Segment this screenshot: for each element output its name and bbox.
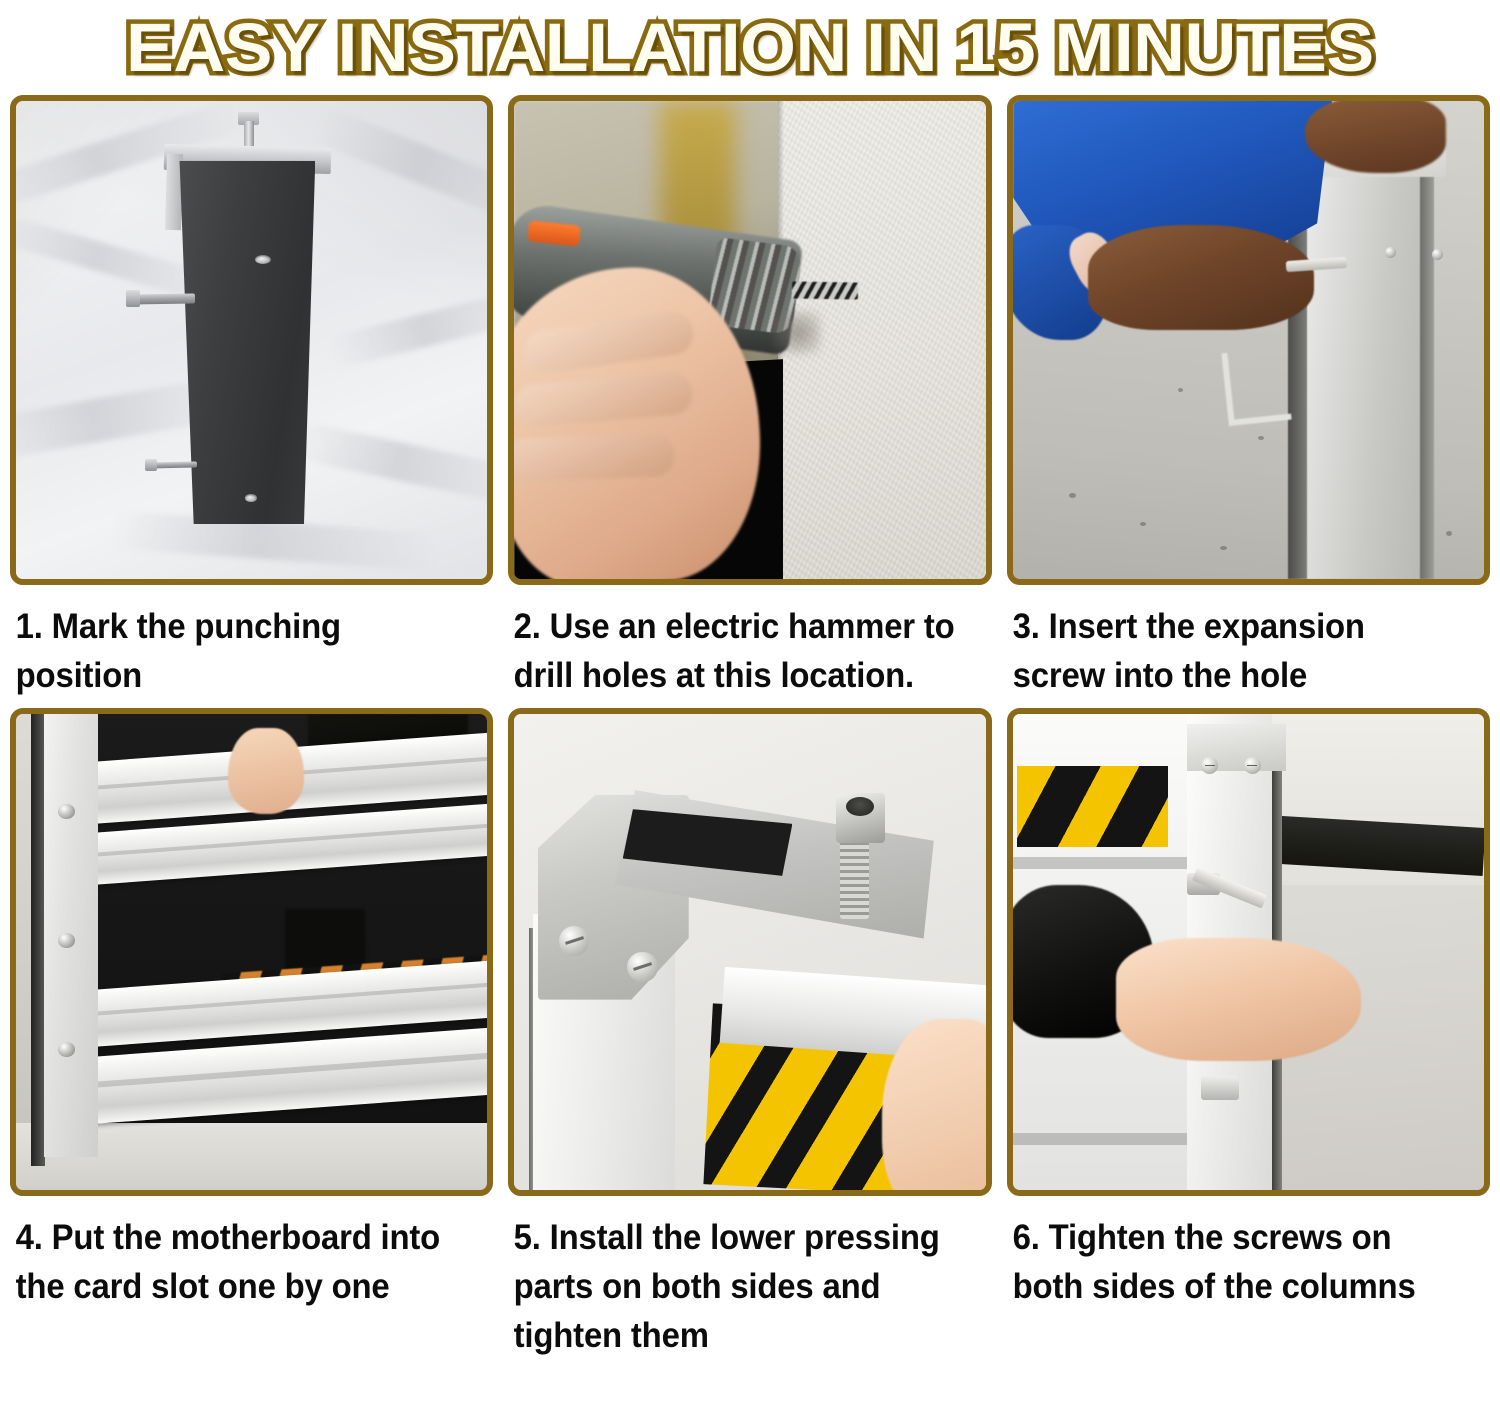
steps-grid: 1. Mark the punching position 2. Use xyxy=(0,95,1500,1360)
step-3-caption: 3. Insert the expansion screw into the h… xyxy=(1007,585,1461,700)
step-6: 6. Tighten the screws on both sides of t… xyxy=(1007,708,1490,1360)
step-1-photo-frame xyxy=(10,95,493,585)
step-5-caption: 5. Install the lower pressing parts on b… xyxy=(508,1196,962,1360)
step-4: 4. Put the motherboard into the card slo… xyxy=(10,708,493,1360)
expansion-screw-photo xyxy=(1013,101,1484,579)
boards-into-slot-photo xyxy=(16,714,487,1190)
step-4-caption: 4. Put the motherboard into the card slo… xyxy=(10,1196,464,1311)
step-3: 3. Insert the expansion screw into the h… xyxy=(1007,95,1490,700)
step-5: 5. Install the lower pressing parts on b… xyxy=(508,708,991,1360)
page-title: EASY INSTALLATION IN 15 MINUTES xyxy=(126,13,1374,83)
step-6-caption: 6. Tighten the screws on both sides of t… xyxy=(1007,1196,1461,1311)
pressing-clamp-photo xyxy=(514,714,985,1190)
step-5-photo-frame xyxy=(508,708,991,1196)
step-2: 2. Use an electric hammer to drill holes… xyxy=(508,95,991,700)
title-banner: EASY INSTALLATION IN 15 MINUTES xyxy=(0,0,1500,95)
step-4-photo-frame xyxy=(10,708,493,1196)
step-2-photo-frame xyxy=(508,95,991,585)
step-6-photo-frame xyxy=(1007,708,1490,1196)
tighten-screws-photo xyxy=(1013,714,1484,1190)
step-1: 1. Mark the punching position xyxy=(10,95,493,700)
step-2-caption: 2. Use an electric hammer to drill holes… xyxy=(508,585,962,700)
step-1-caption: 1. Mark the punching position xyxy=(10,585,464,700)
step-3-photo-frame xyxy=(1007,95,1490,585)
bracket-on-cloth-photo xyxy=(16,101,487,579)
drilling-wall-photo xyxy=(514,101,985,579)
